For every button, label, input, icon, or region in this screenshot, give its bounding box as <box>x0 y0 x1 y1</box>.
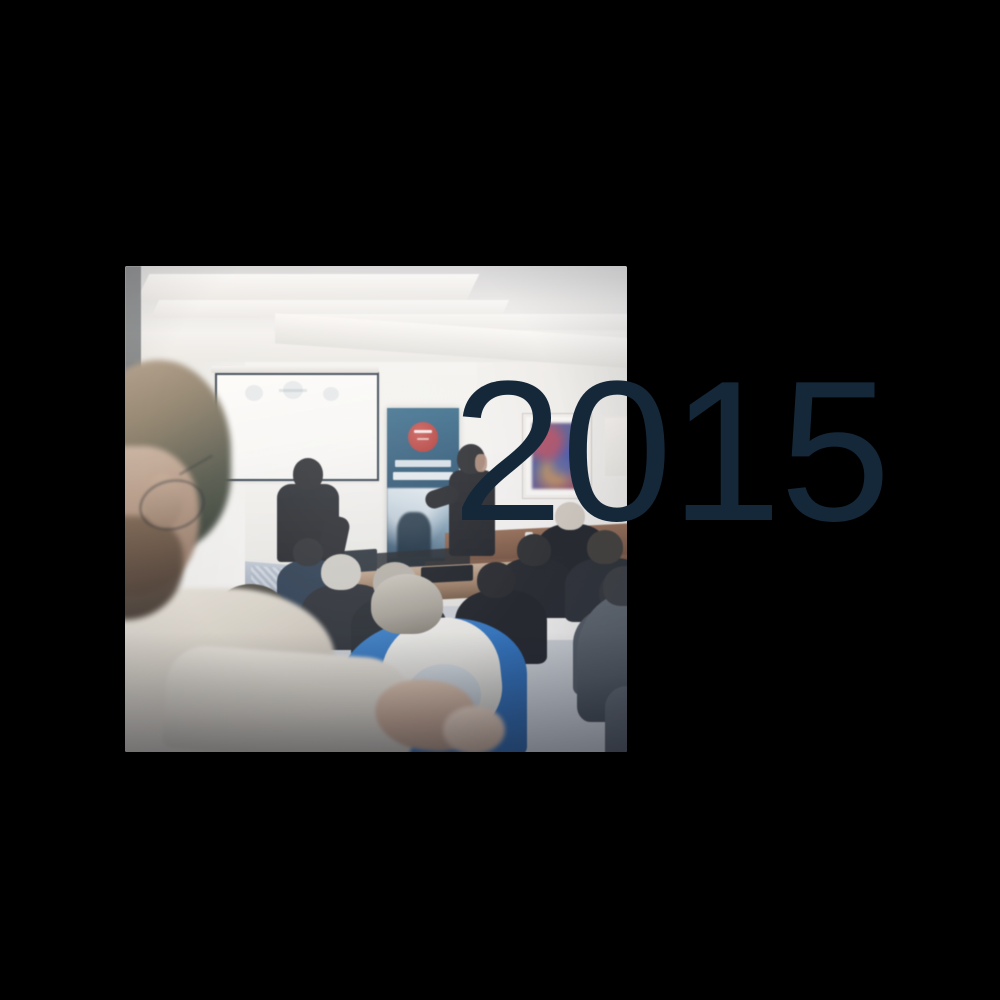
foreground-man-fingers <box>443 706 505 752</box>
screen-content-blob <box>245 385 263 401</box>
banner-logo-wordmark <box>414 430 432 433</box>
banner-headline-line <box>395 460 451 467</box>
banner-logo-subtext <box>417 438 429 440</box>
page-canvas: 2015 <box>0 0 1000 1000</box>
attendee-head <box>293 538 323 566</box>
blue-jacket-attendee-head <box>371 574 443 634</box>
year-label: 2015 <box>452 352 889 552</box>
grey-haired-attendee-head <box>321 554 361 590</box>
screen-roller <box>211 366 379 373</box>
grey-hoodie-attendee-leg <box>605 686 627 752</box>
presenter-at-screen-head <box>293 458 323 490</box>
wall-edge-shadow <box>125 266 141 376</box>
banner-logo-icon <box>408 422 438 452</box>
attendee-head <box>477 562 515 598</box>
banner-headline-line <box>393 472 453 480</box>
ceiling-beam <box>137 274 480 300</box>
screen-content-bar <box>279 389 307 392</box>
screen-content-blob <box>323 387 339 401</box>
